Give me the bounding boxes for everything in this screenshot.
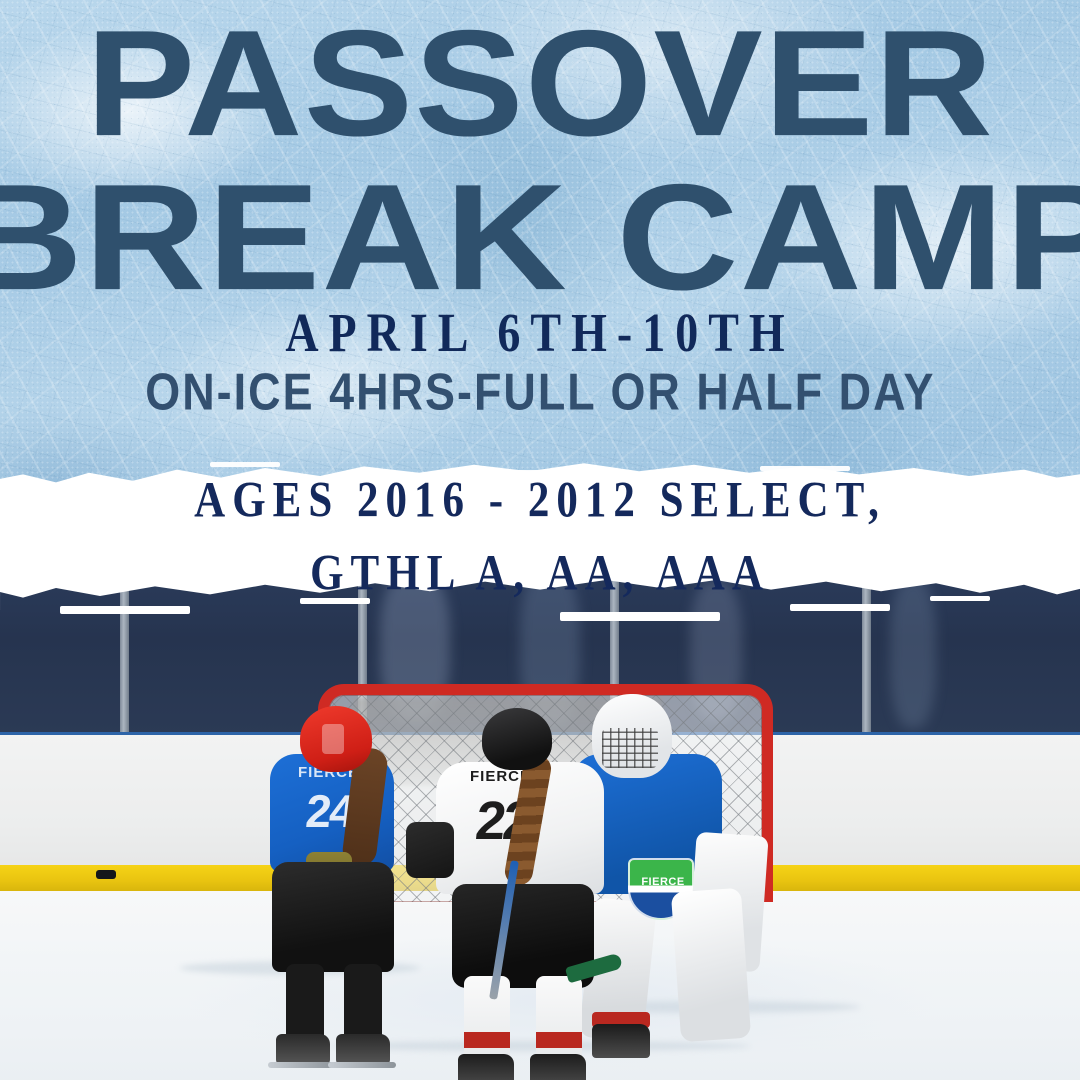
title-line-1: PASSOVER bbox=[0, 14, 1080, 153]
white-player-helmet bbox=[482, 708, 552, 770]
blue-player-skate bbox=[336, 1034, 390, 1064]
banner-paint-fleck bbox=[760, 466, 850, 471]
white-player: FIERCE 22 bbox=[430, 706, 620, 1052]
schedule-line-wrap: ON-ICE 4HRS-FULL OR HALF DAY bbox=[0, 368, 1080, 418]
blue-player-pants bbox=[272, 862, 394, 972]
team-logo-label: FIERCE bbox=[630, 876, 696, 888]
white-player-sock bbox=[464, 976, 510, 1062]
poster-canvas: FIERCE FIERCE 24 bbox=[0, 0, 1080, 1080]
ages-block: AGES 2016 - 2012 SELECT, GTHL A, AA, AAA bbox=[0, 476, 1080, 598]
skate-blade bbox=[328, 1062, 396, 1068]
banner-paint-fleck bbox=[560, 612, 720, 621]
date-line: APRIL 6TH-10TH bbox=[285, 301, 794, 365]
ages-line-1: AGES 2016 - 2012 SELECT, bbox=[0, 472, 1080, 530]
poster-title: PASSOVER BREAK CAMP bbox=[0, 24, 1080, 297]
goalie-leg-pad bbox=[671, 888, 751, 1043]
schedule-line: ON-ICE 4HRS-FULL OR HALF DAY bbox=[145, 364, 935, 423]
banner-paint-fleck bbox=[210, 462, 280, 467]
white-player-skate bbox=[458, 1054, 514, 1080]
white-player-sock bbox=[536, 976, 582, 1062]
white-player-skate bbox=[530, 1054, 586, 1080]
puck bbox=[96, 870, 116, 879]
blue-player-skate bbox=[276, 1034, 330, 1064]
sock-band bbox=[464, 1032, 510, 1048]
banner-paint-fleck bbox=[60, 606, 190, 614]
sock-band bbox=[536, 1032, 582, 1048]
blue-player-helmet bbox=[300, 706, 372, 772]
blue-player: FIERCE 24 bbox=[262, 702, 412, 1032]
date-block: APRIL 6TH-10TH ON-ICE 4HRS-FULL OR HALF … bbox=[0, 306, 1080, 359]
hockey-photo: FIERCE FIERCE 24 bbox=[0, 560, 1080, 1080]
title-line-2: BREAK CAMP bbox=[0, 168, 1080, 307]
banner-paint-fleck bbox=[790, 604, 890, 611]
ages-line-2: GTHL A, AA, AAA bbox=[0, 545, 1080, 603]
skate-blade bbox=[268, 1062, 336, 1068]
white-player-glove bbox=[406, 822, 454, 878]
